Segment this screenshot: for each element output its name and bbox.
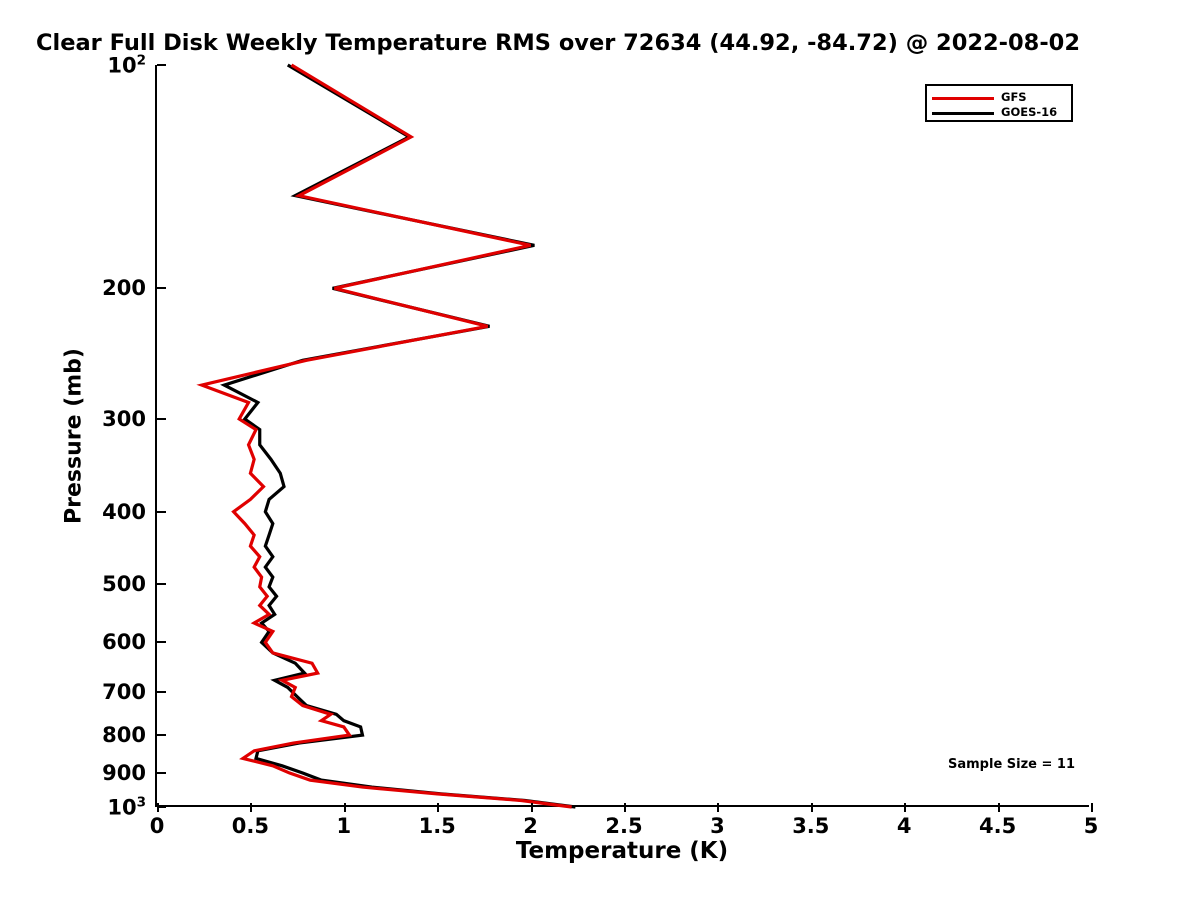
y-tick-label: 102 [107, 53, 157, 78]
y-tick-label: 800 [102, 723, 157, 747]
y-tick-mark [157, 772, 166, 774]
legend-label-gfs: GFS [1001, 92, 1027, 104]
series-line-goes-16 [224, 65, 575, 807]
legend: GFS GOES-16 [925, 84, 1073, 122]
x-tick-mark [624, 803, 626, 812]
x-tick-mark [531, 803, 533, 812]
y-tick-mark [157, 64, 166, 66]
legend-swatch-goes-16-icon [932, 112, 994, 115]
y-tick-mark [157, 691, 166, 693]
x-tick-mark [157, 803, 159, 812]
y-axis-label: Pressure (mb) [62, 348, 87, 524]
y-tick-mark [157, 418, 166, 420]
y-tick-label: 900 [102, 761, 157, 785]
legend-label-goes-16: GOES-16 [1001, 107, 1057, 119]
y-tick-label: 600 [102, 630, 157, 654]
sample-size-annotation: Sample Size = 11 [948, 757, 1075, 772]
legend-item-gfs: GFS [932, 91, 1066, 105]
y-tick-mark [157, 734, 166, 736]
x-tick-mark [437, 803, 439, 812]
legend-swatch-gfs-icon [932, 97, 994, 100]
x-tick-mark [1091, 803, 1093, 812]
x-tick-mark [811, 803, 813, 812]
x-axis-label: Temperature (K) [516, 838, 728, 864]
x-tick-mark [250, 803, 252, 812]
y-tick-mark [157, 511, 166, 513]
plot-container: Pressure (mb) 10220030040050060070080090… [0, 0, 1200, 900]
y-tick-label: 200 [102, 276, 157, 300]
x-tick-mark [344, 803, 346, 812]
plot-area: 102200300400500600700800900103 00.511.52… [155, 65, 1089, 807]
y-tick-mark [157, 641, 166, 643]
y-tick-label: 500 [102, 572, 157, 596]
x-tick-mark [904, 803, 906, 812]
y-tick-mark [157, 287, 166, 289]
y-tick-mark [157, 583, 166, 585]
x-tick-mark [717, 803, 719, 812]
y-tick-label: 400 [102, 500, 157, 524]
data-lines [157, 65, 1091, 807]
x-tick-mark [998, 803, 1000, 812]
legend-item-goes-16: GOES-16 [932, 106, 1066, 120]
series-line-gfs [202, 65, 572, 807]
chart-page: Clear Full Disk Weekly Temperature RMS o… [0, 0, 1200, 900]
y-tick-label: 300 [102, 407, 157, 431]
y-tick-label: 700 [102, 680, 157, 704]
